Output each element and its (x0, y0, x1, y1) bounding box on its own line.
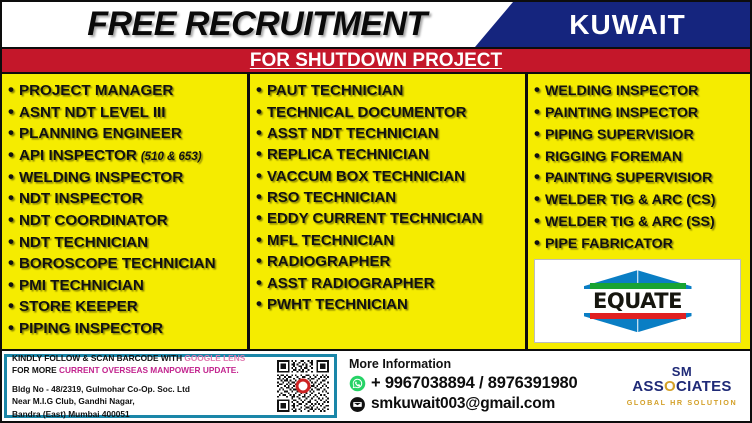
list-item: •BOROSCOPE TECHNICIAN (8, 252, 243, 274)
job-title: ASST RADIOGRAPHER (267, 276, 435, 291)
list-item: •NDT INSPECTOR (8, 187, 243, 209)
scan-instruction-line-1: KINDLY FOLLOW & SCAN BARCODE WITH GOOGLE… (12, 352, 273, 364)
job-title: RSO TECHNICIAN (267, 190, 396, 205)
list-item: •PROJECT MANAGER (8, 79, 243, 101)
bullet-icon: • (534, 125, 540, 142)
job-title: RADIOGRAPHER (267, 254, 390, 269)
job-title: WELDING INSPECTOR (545, 84, 698, 98)
address-line: Bldg No - 48/2319, Gulmohar Co-Op. Soc. … (12, 383, 273, 395)
bullet-icon: • (256, 167, 262, 184)
list-item: •WELDING INSPECTOR (534, 79, 743, 101)
recruitment-poster: FREE RECRUITMENT KUWAIT FOR SHUTDOWN PRO… (0, 0, 752, 423)
job-title: ASNT NDT LEVEL III (19, 105, 166, 120)
bullet-icon: • (8, 297, 14, 314)
bullet-icon: • (8, 319, 14, 336)
poster-footer: KINDLY FOLLOW & SCAN BARCODE WITH GOOGLE… (2, 351, 750, 421)
list-item: •API INSPECTOR(510 & 653) (8, 144, 243, 166)
scan-line-1-prefix: KINDLY FOLLOW & SCAN BARCODE WITH (12, 353, 184, 363)
bullet-icon: • (256, 103, 262, 120)
job-column-1: •PROJECT MANAGER •ASNT NDT LEVEL III •PL… (2, 74, 250, 349)
scan-text-block: KINDLY FOLLOW & SCAN BARCODE WITH GOOGLE… (12, 352, 273, 420)
job-title: NDT COORDINATOR (19, 213, 168, 228)
job-title: PIPE FABRICATOR (545, 237, 673, 251)
list-item: •RIGGING FOREMAN (534, 144, 743, 166)
job-title: MFL TECHNICIAN (267, 233, 394, 248)
subheader-banner: FOR SHUTDOWN PROJECT (2, 47, 750, 74)
bullet-icon: • (534, 147, 540, 164)
job-title: NDT TECHNICIAN (19, 235, 148, 250)
phone-number: + 9967038894 / 8976391980 (371, 374, 578, 393)
bullet-icon: • (8, 124, 14, 141)
job-title: TECHNICAL DOCUMENTOR (267, 105, 466, 120)
bullet-icon: • (534, 190, 540, 207)
list-item: •PLANNING ENGINEER (8, 122, 243, 144)
agency-logo: SM ASSOCIATES GLOBAL HR SOLUTION (618, 351, 750, 421)
job-title: NDT INSPECTOR (19, 191, 143, 206)
bullet-icon: • (256, 274, 262, 291)
bullet-icon: • (256, 295, 262, 312)
brand-tagline: GLOBAL HR SOLUTION (627, 398, 738, 407)
brand-line-1: SM (672, 365, 693, 379)
job-title: API INSPECTOR (19, 148, 137, 163)
bullet-icon: • (8, 233, 14, 250)
bullet-icon: • (8, 168, 14, 185)
whatsapp-icon (349, 375, 366, 392)
list-item: •ASNT NDT LEVEL III (8, 101, 243, 123)
brand-assoc-part-b: CIATES (676, 378, 732, 395)
list-item: •ASST NDT TECHNICIAN (256, 122, 521, 143)
list-item: •NDT TECHNICIAN (8, 230, 243, 252)
list-item: •PAINTING INSPECTOR (534, 101, 743, 123)
equate-wordmark: EQUATE (584, 289, 692, 313)
job-title: REPLICA TECHNICIAN (267, 147, 429, 162)
list-item: •WELDER TIG & ARC (SS) (534, 210, 743, 232)
list-item: •TECHNICAL DOCUMENTOR (256, 100, 521, 121)
qr-code[interactable] (277, 360, 329, 412)
job-title: PWHT TECHNICIAN (267, 297, 408, 312)
list-item: •PIPING SUPERVISIOR (534, 123, 743, 145)
subheader-label: FOR SHUTDOWN PROJECT (250, 50, 502, 72)
job-title: PAUT TECHNICIAN (267, 83, 403, 98)
poster-header: FREE RECRUITMENT KUWAIT (2, 2, 750, 47)
address-line: Bandra (East) Mumbai 400051 (12, 408, 273, 420)
bullet-icon: • (534, 234, 540, 251)
list-item: •RADIOGRAPHER (256, 250, 521, 271)
job-title: BOROSCOPE TECHNICIAN (19, 256, 216, 271)
equate-logo: EQUATE (584, 270, 692, 332)
bullet-icon: • (256, 81, 262, 98)
list-item: •RSO TECHNICIAN (256, 186, 521, 207)
bullet-icon: • (8, 103, 14, 120)
job-title: PROJECT MANAGER (19, 83, 173, 98)
list-item: •PIPE FABRICATOR (534, 232, 743, 254)
job-title: PMI TECHNICIAN (19, 278, 144, 293)
job-list-1: •PROJECT MANAGER •ASNT NDT LEVEL III •PL… (8, 79, 243, 338)
job-title: STORE KEEPER (19, 299, 138, 314)
qr-center-marker (296, 379, 311, 394)
bullet-icon: • (8, 189, 14, 206)
list-item: •PIPING INSPECTOR (8, 317, 243, 339)
scan-line-2-prefix: FOR MORE (12, 365, 59, 375)
brand-assoc-accent-o: O (664, 378, 676, 395)
job-title: PIPING INSPECTOR (19, 321, 163, 336)
bullet-icon: • (256, 188, 262, 205)
page-title: FREE RECRUITMENT (2, 2, 512, 47)
bullet-icon: • (8, 254, 14, 271)
bullet-icon: • (534, 103, 540, 120)
email-address: smkuwait003@gmail.com (371, 395, 555, 413)
brand-assoc-part-a: ASS (632, 378, 664, 395)
job-note: (510 & 653) (141, 152, 202, 164)
job-columns: •PROJECT MANAGER •ASNT NDT LEVEL III •PL… (2, 74, 750, 351)
list-item: •MFL TECHNICIAN (256, 229, 521, 250)
list-item: •WELDING INSPECTOR (8, 166, 243, 188)
bullet-icon: • (8, 276, 14, 293)
brand-line-2: ASSOCIATES (632, 379, 731, 396)
bullet-icon: • (8, 81, 14, 98)
job-title: VACCUM BOX TECHNICIAN (267, 169, 465, 184)
job-title: ASST NDT TECHNICIAN (267, 126, 439, 141)
job-column-2: •PAUT TECHNICIAN •TECHNICAL DOCUMENTOR •… (250, 74, 528, 349)
region-banner: KUWAIT (475, 2, 750, 47)
list-item: •STORE KEEPER (8, 295, 243, 317)
scan-info-box: KINDLY FOLLOW & SCAN BARCODE WITH GOOGLE… (4, 354, 337, 418)
phone-row[interactable]: + 9967038894 / 8976391980 (349, 374, 618, 393)
job-title: PAINTING INSPECTOR (545, 106, 698, 120)
job-title: PLANNING ENGINEER (19, 126, 182, 141)
job-list-3: •WELDING INSPECTOR •PAINTING INSPECTOR •… (534, 79, 743, 253)
list-item: •ASST RADIOGRAPHER (256, 271, 521, 292)
list-item: •PWHT TECHNICIAN (256, 293, 521, 314)
email-row[interactable]: smkuwait003@gmail.com (349, 395, 618, 413)
bullet-icon: • (534, 81, 540, 98)
list-item: •WELDER TIG & ARC (CS) (534, 188, 743, 210)
manpower-update-label: CURRENT OVERSEAS MANPOWER UPDATE. (59, 365, 239, 375)
client-logo-panel: EQUATE (534, 259, 741, 343)
address-line: Near M.I.G Club, Gandhi Nagar, (12, 395, 273, 407)
job-title: WELDER TIG & ARC (CS) (545, 193, 716, 207)
job-list-2: •PAUT TECHNICIAN •TECHNICAL DOCUMENTOR •… (256, 79, 521, 314)
contact-block: More Information + 9967038894 / 89763919… (337, 351, 618, 421)
list-item: •EDDY CURRENT TECHNICIAN (256, 207, 521, 228)
job-column-3: •WELDING INSPECTOR •PAINTING INSPECTOR •… (528, 74, 747, 349)
bullet-icon: • (8, 146, 14, 163)
contact-title: More Information (349, 357, 618, 371)
email-icon (349, 396, 366, 413)
list-item: •VACCUM BOX TECHNICIAN (256, 165, 521, 186)
bullet-icon: • (534, 212, 540, 229)
job-title: PIPING SUPERVISIOR (545, 128, 694, 142)
list-item: •PAINTING SUPERVISIOR (534, 166, 743, 188)
scan-instruction-line-2: FOR MORE CURRENT OVERSEAS MANPOWER UPDAT… (12, 364, 273, 376)
list-item: •PMI TECHNICIAN (8, 274, 243, 296)
bullet-icon: • (256, 252, 262, 269)
job-title: PAINTING SUPERVISIOR (545, 171, 712, 185)
google-lens-label: GOOGLE LENS (184, 353, 245, 363)
list-item: •PAUT TECHNICIAN (256, 79, 521, 100)
region-label: KUWAIT (569, 9, 685, 41)
bullet-icon: • (8, 211, 14, 228)
bullet-icon: • (256, 231, 262, 248)
address-block: Bldg No - 48/2319, Gulmohar Co-Op. Soc. … (12, 383, 273, 420)
list-item: •NDT COORDINATOR (8, 209, 243, 231)
job-title: EDDY CURRENT TECHNICIAN (267, 211, 483, 226)
job-title: RIGGING FOREMAN (545, 150, 682, 164)
bullet-icon: • (534, 168, 540, 185)
bullet-icon: • (256, 145, 262, 162)
list-item: •REPLICA TECHNICIAN (256, 143, 521, 164)
bullet-icon: • (256, 209, 262, 226)
bullet-icon: • (256, 124, 262, 141)
equate-red-band (590, 312, 686, 319)
job-title: WELDING INSPECTOR (19, 170, 183, 185)
job-title: WELDER TIG & ARC (SS) (545, 215, 715, 229)
